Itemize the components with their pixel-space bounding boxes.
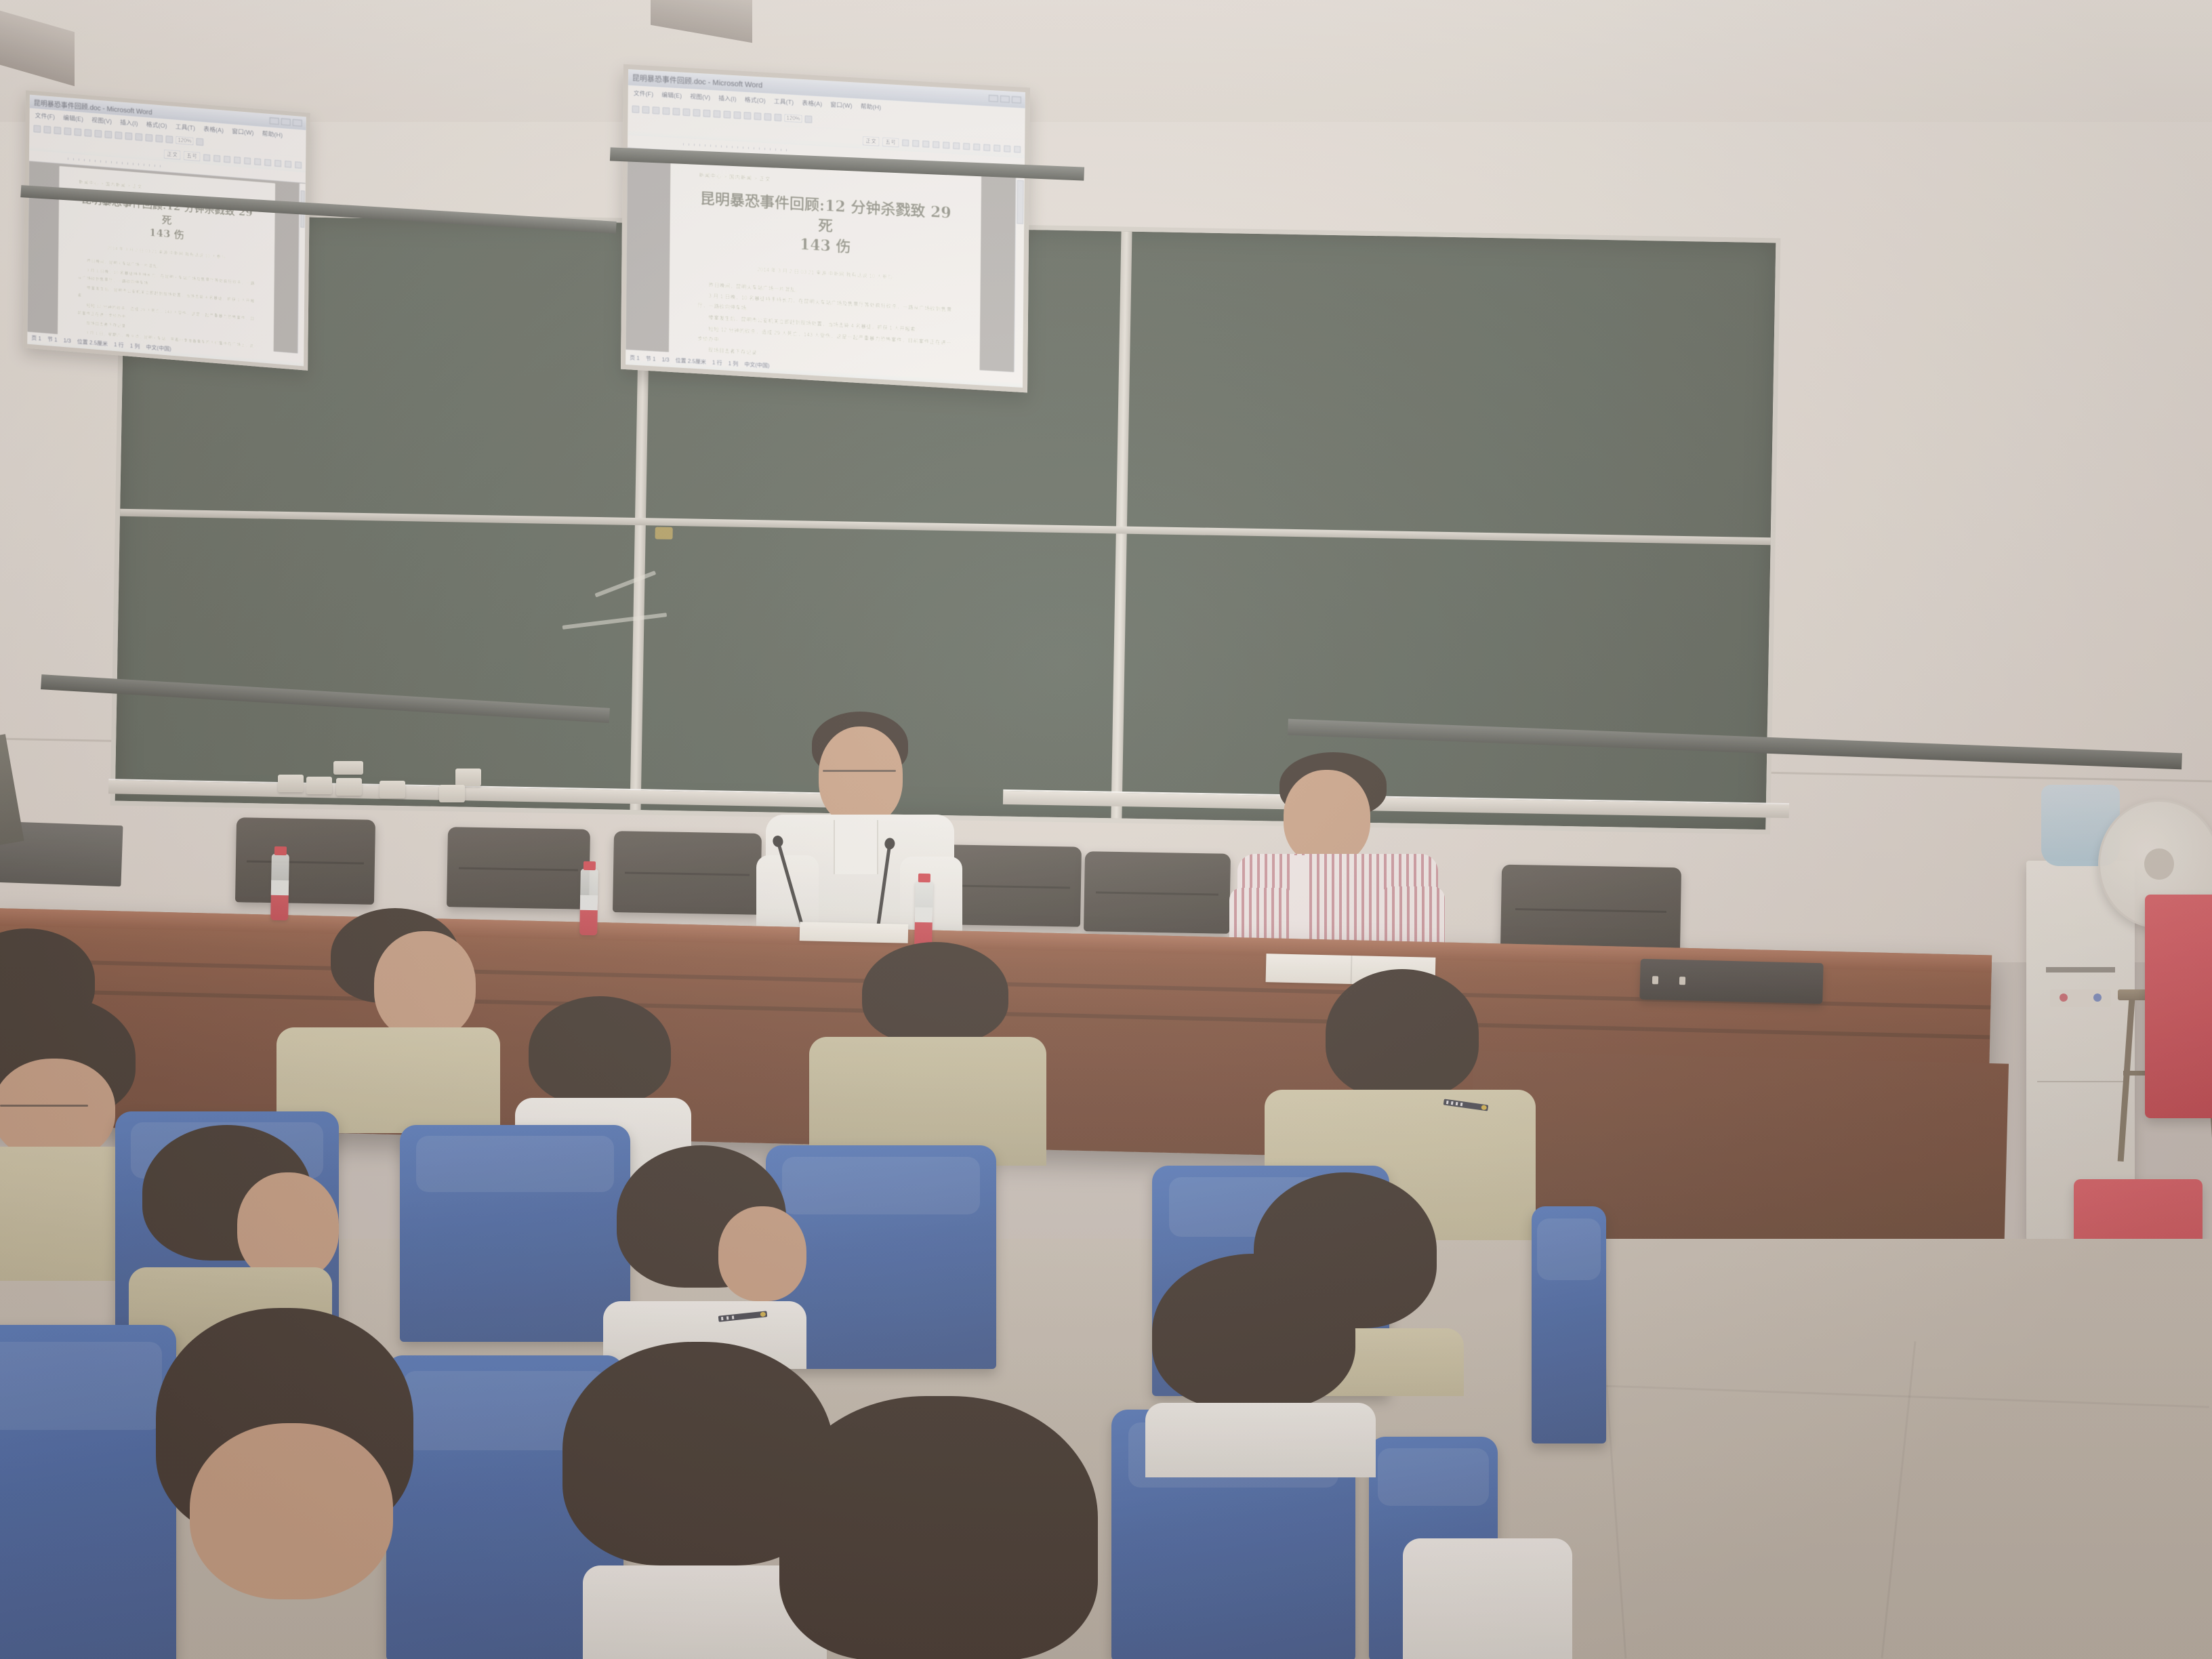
chalk-mark [562,613,668,630]
bottle-label [915,907,933,922]
eraser [380,781,405,798]
head [718,1206,806,1301]
dispenser-taps[interactable] [2050,989,2111,1007]
copy-icon[interactable] [104,131,112,139]
lecture-hall-photo: 昆明暴恐事件回顾.doc - Microsoft Word 文件(F) 编辑(E… [0,0,2212,1659]
align-right-icon[interactable] [953,142,960,150]
align-left-icon[interactable] [234,157,241,164]
tape-mark [655,527,672,539]
document-page: 新闻中心 > 国内新闻 > 正文 昆明暴恐事件回顾:12 分钟杀戮致 29 死 … [670,154,981,370]
paper-sheet [800,922,909,943]
numbered-list-icon[interactable] [983,144,990,151]
menu-window[interactable]: 窗口(W) [830,100,853,110]
open-icon[interactable] [642,106,649,115]
polo-placket [834,820,878,874]
chalkboard-mullion [1111,231,1132,818]
cut-icon[interactable] [693,109,700,117]
conference-chair[interactable] [1500,865,1681,955]
auditorium-seat[interactable] [0,1325,176,1659]
table-icon[interactable] [754,112,761,121]
open-icon[interactable] [43,126,51,134]
audience-member-front [1403,1511,1572,1659]
auditorium-seat[interactable] [1532,1206,1606,1443]
menu-file[interactable]: 文件(F) [634,89,654,99]
bag-clasp [1652,976,1658,984]
highlight-icon[interactable] [1004,145,1010,152]
chalk-mark [594,571,656,598]
red-bag-secondary[interactable] [2145,895,2212,1118]
zoom-level-combo[interactable]: 120% [784,115,802,123]
water-bottle[interactable] [579,869,598,935]
scrollbar-thumb[interactable] [1017,180,1023,224]
conference-chair[interactable] [613,831,762,915]
bullet-list-icon[interactable] [973,144,980,151]
status-pagecount: 1/3 [661,356,669,363]
window-controls[interactable] [270,117,302,127]
indent-icon[interactable] [994,144,1000,152]
zoom-level-combo[interactable]: 120% [176,136,194,145]
columns-icon[interactable] [764,113,771,121]
head [819,726,903,825]
vertical-scrollbar[interactable] [1014,171,1025,373]
hair [0,928,95,1030]
speaker-right [1227,752,1450,969]
menu-table[interactable]: 表格(A) [802,98,822,108]
menu-table[interactable]: 表格(A) [203,124,224,134]
projection-screen-right: 昆明暴恐事件回顾.doc - Microsoft Word 文件(F) 编辑(E… [621,64,1030,393]
help-icon[interactable] [805,116,813,124]
head [190,1423,393,1599]
torso [1145,1403,1376,1477]
eraser [333,761,363,775]
hair [862,942,1008,1044]
menu-help[interactable]: 帮助(H) [262,129,283,139]
status-pagecount: 1/3 [64,337,71,344]
hyperlink-icon[interactable] [743,112,751,120]
hair [779,1396,1098,1659]
word-document-area[interactable]: 新闻中心 > 国内新闻 > 正文 昆明暴恐事件回顾:12 分钟杀戮致 29 死 … [626,148,1025,373]
head [374,931,476,1040]
print-preview-icon[interactable] [672,108,680,116]
columns-icon[interactable] [165,136,173,144]
fan-hub [2144,848,2173,880]
status-section: 节 1 [646,354,656,363]
drawing-icon[interactable] [774,114,781,122]
chalkboard-mullion [120,509,1771,546]
rank-star [760,1311,766,1317]
floor-tile-seam [1559,1383,2209,1408]
audience-member-front [779,1396,1118,1659]
status-line: 1 行 [114,341,124,349]
audience-member [800,942,1057,1166]
laptop-bag[interactable] [1639,959,1823,1004]
spellcheck-icon[interactable] [682,108,690,117]
projection-screen-left: 昆明暴恐事件回顾.doc - Microsoft Word 文件(F) 编辑(E… [23,90,310,371]
conference-chair[interactable] [235,817,375,905]
cold-tap-icon[interactable] [2093,994,2102,1002]
status-column: 1 列 [130,342,140,350]
audience-member [258,908,515,1132]
redo-icon[interactable] [733,111,741,119]
status-line: 1 行 [712,359,722,367]
align-left-icon[interactable] [933,141,939,148]
new-document-icon[interactable] [632,106,639,114]
head [1284,770,1370,865]
help-icon[interactable] [197,138,204,146]
save-icon[interactable] [652,106,659,115]
eyeglasses [823,770,896,772]
bold-icon[interactable] [203,154,210,161]
bottle-cap [274,846,287,855]
bullet-list-icon[interactable] [264,159,271,166]
conference-chair[interactable] [1084,851,1231,934]
speaker-left [752,712,969,956]
document-breadcrumb: 新闻中心 > 国内新闻 > 正文 [699,171,953,194]
font-size-box[interactable]: 五号 [882,137,899,146]
highlight-icon[interactable] [285,161,291,168]
floor-tile-seam [1881,1341,1916,1658]
bold-icon[interactable] [902,139,909,146]
new-document-icon[interactable] [33,125,41,133]
menu-help[interactable]: 帮助(H) [861,102,882,112]
menu-tools[interactable]: 工具(T) [774,97,794,107]
word-window-left: 昆明暴恐事件回顾.doc - Microsoft Word 文件(F) 编辑(E… [27,95,306,367]
window-controls[interactable] [989,95,1021,104]
stool-leg [2118,999,2135,1162]
audience-member-front [156,1308,441,1659]
audience-member-front [1152,1254,1396,1477]
menu-tools[interactable]: 工具(T) [175,122,195,132]
print-icon[interactable] [64,127,71,136]
menu-view[interactable]: 视图(V) [91,115,112,125]
menu-insert[interactable]: 插入(I) [120,117,138,127]
head [237,1172,339,1281]
eyeglasses [0,1105,88,1107]
status-column: 1 列 [729,359,739,367]
hyperlink-icon[interactable] [145,134,152,142]
audience-member [0,928,108,1105]
eraser [278,775,304,792]
bottle-cap [583,861,596,870]
paste-icon[interactable] [115,131,122,140]
italic-icon[interactable] [912,140,919,147]
numbered-list-icon[interactable] [274,159,281,167]
eraser [439,785,465,802]
bottle-label [580,895,598,910]
menu-view[interactable]: 视图(V) [690,92,710,102]
save-icon[interactable] [54,127,61,135]
font-color-icon[interactable] [295,161,302,169]
undo-icon[interactable] [125,132,132,140]
menu-edit[interactable]: 编辑(E) [661,90,682,100]
redo-icon[interactable] [135,133,142,141]
hair [1152,1254,1355,1410]
water-bottle[interactable] [914,881,933,947]
bottle-cap [918,874,930,882]
print-icon[interactable] [662,107,670,115]
status-language: 中文(中国) [146,344,171,353]
hot-tap-icon[interactable] [2060,994,2068,1002]
status-position: 位置 2.5厘米 [77,338,108,348]
hair [529,996,671,1105]
ceiling-vent-right [651,0,752,43]
eraser [455,769,481,786]
document-meta: 2014 年 3 月 2 日 03:21 来源:中新网 我有话说 10 人参与 [698,262,952,285]
dispenser-slot [2046,967,2115,972]
print-preview-icon[interactable] [74,128,81,136]
hair [1326,969,1479,1098]
status-position: 位置 2.5厘米 [676,356,706,366]
status-section: 节 1 [47,335,58,344]
menu-insert[interactable]: 插入(I) [718,94,737,104]
align-center-icon[interactable] [244,157,251,165]
table-icon[interactable] [155,135,163,143]
torso [1403,1538,1572,1659]
menu-edit[interactable]: 编辑(E) [63,113,83,123]
status-page: 页 1 [31,334,41,342]
undo-icon[interactable] [723,111,731,119]
italic-icon[interactable] [213,155,220,162]
font-size-box[interactable]: 五号 [184,151,200,161]
ceiling-vent-left [0,9,75,86]
rank-star [1481,1105,1487,1110]
copy-icon[interactable] [703,110,710,118]
menu-format[interactable]: 格式(O) [146,119,167,129]
underline-icon[interactable] [922,140,929,148]
align-center-icon[interactable] [943,142,949,149]
spellcheck-icon[interactable] [84,129,91,137]
word-window-right: 昆明暴恐事件回顾.doc - Microsoft Word 文件(F) 编辑(E… [626,69,1025,388]
font-color-icon[interactable] [1014,146,1021,153]
eraser [306,777,332,794]
status-language: 中文(中国) [744,361,769,369]
bag-clasp [1679,977,1685,985]
conference-chair[interactable] [447,827,590,909]
cut-icon[interactable] [94,130,102,138]
menu-window[interactable]: 窗口(W) [232,126,254,137]
status-page: 页 1 [630,354,640,362]
audience-member [590,1145,820,1369]
style-box[interactable]: 正文 [863,136,879,146]
paste-icon[interactable] [713,110,720,119]
eraser [336,778,362,796]
menu-format[interactable]: 格式(O) [745,95,766,105]
align-right-icon[interactable] [254,158,261,165]
bottle-label [271,880,289,895]
style-box[interactable]: 正文 [164,150,180,160]
underline-icon[interactable] [224,155,230,163]
menu-file[interactable]: 文件(F) [35,110,55,121]
align-justify-icon[interactable] [963,143,970,150]
